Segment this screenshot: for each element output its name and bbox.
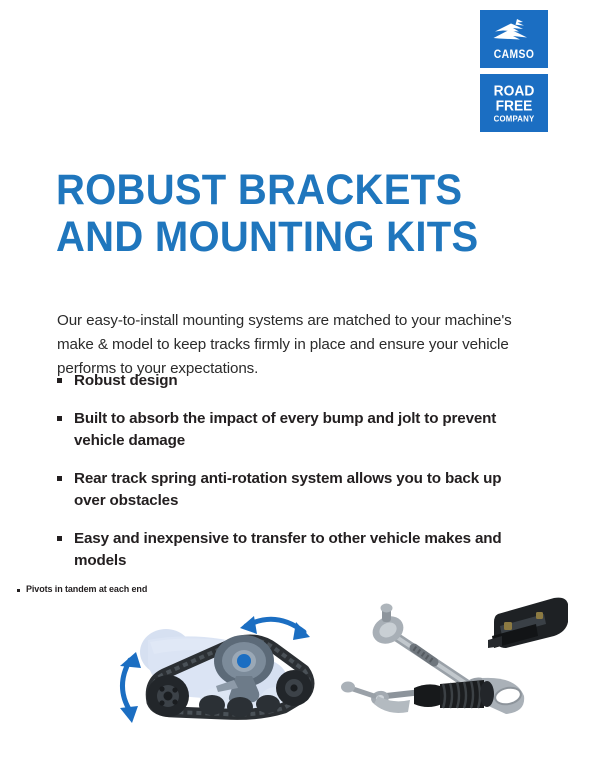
camso-logo: CAMSO <box>480 10 548 68</box>
front-idler-wheel <box>276 670 312 706</box>
track-diagram-svg <box>108 604 338 739</box>
hardware-photo-svg <box>330 592 570 732</box>
square-bullet-icon <box>57 536 62 541</box>
list-item-label: Easy and inexpensive to transfer to othe… <box>74 528 527 572</box>
badge-line-company: COMPANY <box>483 114 546 123</box>
list-item: Built to absorb the impact of every bump… <box>57 408 527 452</box>
rubber-track-system-diagram <box>108 604 338 739</box>
list-item-label: Rear track spring anti-rotation system a… <box>74 468 527 512</box>
list-item: Easy and inexpensive to transfer to othe… <box>57 528 527 572</box>
badge-line-free: FREE <box>483 99 546 114</box>
page-title-line-2: AND MOUNTING KITS <box>56 214 493 261</box>
rear-idler-wheel <box>147 675 189 717</box>
page-title-line-1: ROBUST BRACKETS <box>56 167 493 214</box>
road-free-company-badge: ROAD FREE COMPANY <box>480 74 548 132</box>
list-item-label: Robust design <box>74 370 178 392</box>
list-item: Robust design <box>57 370 527 392</box>
brand-logo-stack: CAMSO ROAD FREE COMPANY <box>480 10 548 132</box>
sprocket-hub-center <box>237 654 251 668</box>
square-bullet-icon <box>57 378 62 383</box>
list-item-label: Built to absorb the impact of every bump… <box>74 408 527 452</box>
figure-caption-label: Pivots in tandem at each end <box>26 584 147 594</box>
camso-mountain-icon <box>493 18 535 40</box>
coil-spring <box>440 680 484 708</box>
square-bullet-icon <box>17 589 20 592</box>
black-mounting-bracket <box>488 598 568 648</box>
square-bullet-icon <box>57 476 62 481</box>
page-title: ROBUST BRACKETS AND MOUNTING KITS <box>56 167 526 261</box>
badge-line-road: ROAD <box>483 83 546 98</box>
pivot-arrow-left <box>120 652 141 723</box>
camso-wordmark: CAMSO <box>485 47 543 61</box>
anti-rotation-spring <box>341 680 494 713</box>
mounting-hardware-photo <box>330 592 570 732</box>
square-bullet-icon <box>57 416 62 421</box>
feature-bullet-list: Robust design Built to absorb the impact… <box>57 370 527 588</box>
figure-caption: Pivots in tandem at each end <box>17 584 147 594</box>
list-item: Rear track spring anti-rotation system a… <box>57 468 527 512</box>
